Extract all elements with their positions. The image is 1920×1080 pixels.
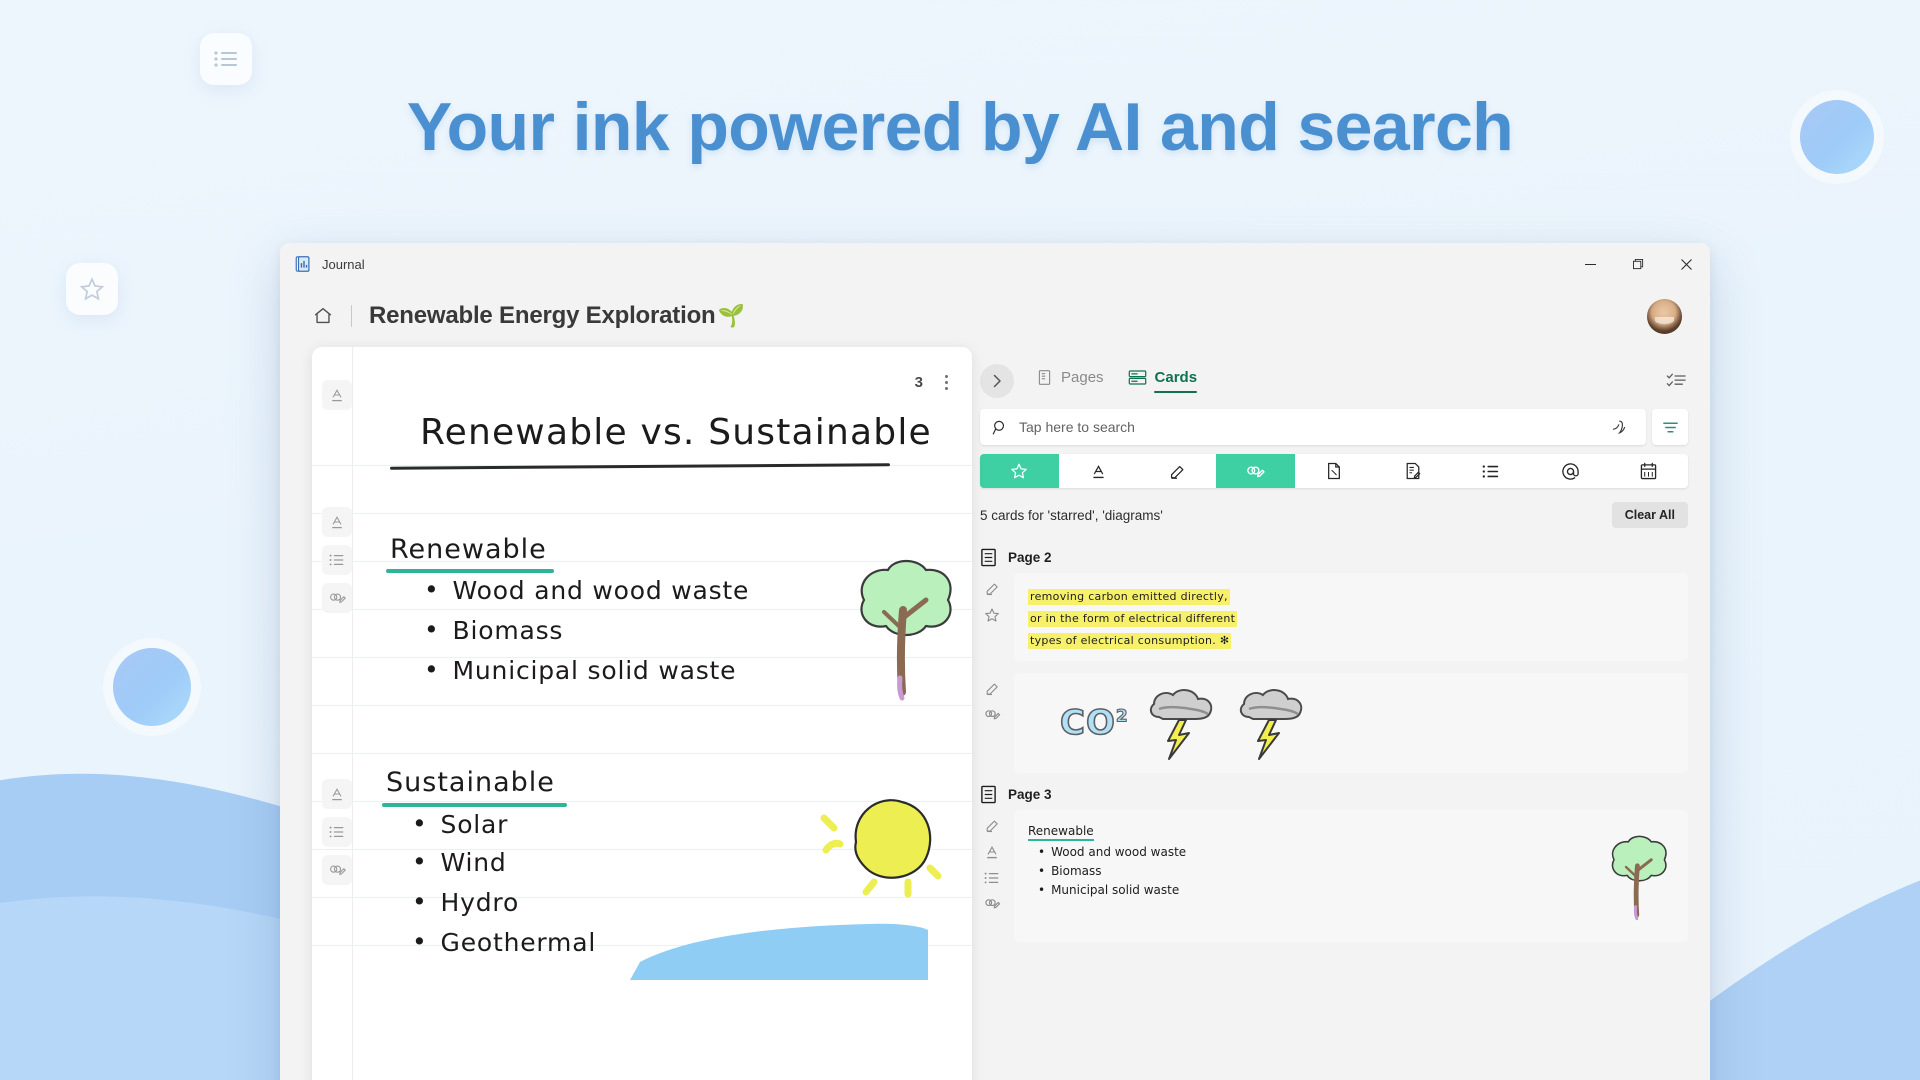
note-list-item: Municipal solid waste [424, 655, 736, 685]
underline-a-icon [1090, 463, 1107, 480]
window-controls [1566, 243, 1710, 285]
page-group-label: Page 3 [1008, 787, 1052, 802]
journal-icon [294, 255, 312, 273]
storm-cloud-icon [1145, 683, 1219, 763]
tab-cards-label: Cards [1155, 369, 1198, 386]
card-list-item: Wood and wood waste [1038, 845, 1674, 859]
star-icon [1010, 462, 1028, 480]
filter-chip-mentions[interactable] [1531, 454, 1610, 488]
star-icon-card [66, 263, 118, 315]
list-icon [329, 553, 345, 567]
clear-all-button[interactable]: Clear All [1612, 502, 1688, 528]
highlighter-icon [1168, 463, 1186, 480]
note-list-item: Geothermal [412, 927, 596, 957]
diagram-icon[interactable] [984, 896, 1001, 911]
more-options-button[interactable] [939, 371, 954, 394]
rail-list-button-1[interactable] [322, 545, 352, 575]
minimize-icon [1585, 259, 1596, 270]
page-group: Page 2 [980, 548, 1688, 773]
highlight-line: or in the form of electrical different [1030, 609, 1235, 627]
pen-icon [329, 590, 346, 606]
card-diagram-co2[interactable]: CO2 [1014, 673, 1688, 773]
highlighter-icon[interactable] [984, 681, 1000, 696]
window-titlebar: Journal [280, 243, 1710, 285]
calendar-icon [1640, 462, 1657, 480]
page-icon [980, 548, 997, 567]
card-note-excerpt[interactable]: Renewable Wood and wood waste Biomass Mu… [1014, 810, 1688, 942]
page-meta: 3 [915, 371, 954, 394]
filter-chip-diagrams[interactable] [1216, 454, 1295, 488]
card-rail [980, 673, 1004, 773]
text-format-icon [329, 387, 345, 403]
avatar[interactable] [1647, 299, 1682, 334]
water-drawing [630, 910, 930, 980]
page-group-header[interactable]: Page 3 [980, 785, 1688, 804]
note-list-item: Wind [412, 847, 507, 877]
highlighter-icon[interactable] [984, 581, 1000, 596]
pdf-icon [1326, 462, 1342, 480]
card-highlighted-text[interactable]: removing carbon emitted directly, or in … [1014, 573, 1688, 661]
sun-drawing [804, 784, 954, 909]
card-row[interactable]: CO2 [980, 673, 1688, 773]
margin-rail [352, 347, 353, 1080]
close-icon [1681, 259, 1692, 270]
panel-top-bar: Pages Cards [972, 359, 1688, 403]
home-button[interactable] [312, 305, 334, 327]
cards-icon [1128, 369, 1147, 386]
pen-icon [329, 862, 346, 878]
search-box[interactable] [980, 409, 1646, 445]
filter-chip-lists[interactable] [1452, 454, 1531, 488]
note-list-item: Biomass [424, 615, 563, 645]
rail-text-format-button-1[interactable] [322, 380, 352, 410]
results-summary: 5 cards for 'starred', 'diagrams' [980, 508, 1163, 523]
document-header: Renewable Energy Exploration 🌱 [280, 285, 1710, 347]
rail-list-button-2[interactable] [322, 817, 352, 847]
page-group-label: Page 2 [1008, 550, 1052, 565]
page-title: Renewable Energy Exploration 🌱 [369, 302, 745, 330]
filter-chip-highlight[interactable] [1137, 454, 1216, 488]
rail-text-format-button-3[interactable] [322, 779, 352, 809]
section-underline-sustainable [382, 803, 567, 807]
search-icon [992, 419, 1009, 436]
note-page[interactable]: 3 [312, 347, 972, 1080]
diagram-icon[interactable] [984, 707, 1001, 722]
filter-chip-text[interactable] [1059, 454, 1138, 488]
highlight-line-text: removing carbon emitted directly, [1030, 590, 1228, 603]
highlight-line: types of electrical consumption. ✻ [1030, 631, 1229, 649]
list-icon [213, 49, 239, 69]
highlighter-icon[interactable] [984, 818, 1000, 833]
search-input[interactable] [1009, 419, 1606, 435]
tab-cards[interactable]: Cards [1128, 369, 1198, 393]
list-icon [329, 825, 345, 839]
checklist-icon [1666, 371, 1686, 391]
mention-icon [1561, 462, 1580, 481]
text-format-icon [329, 514, 345, 530]
page-icon [980, 785, 997, 804]
cards-side-panel: Pages Cards [972, 347, 1710, 1080]
card-rail [980, 810, 1004, 942]
storm-cloud-icon [1235, 683, 1309, 763]
list-icon [1482, 464, 1500, 479]
panel-tabs: Pages Cards [1036, 369, 1197, 393]
section-heading-renewable: Renewable [390, 534, 547, 565]
document-title-text: Renewable Energy Exploration [369, 302, 716, 330]
note-title-ink: Renewable vs. Sustainable [420, 412, 932, 453]
page-number: 3 [915, 374, 923, 391]
page-group: Page 3 [980, 785, 1688, 942]
rail-pen-button-2[interactable] [322, 855, 352, 885]
app-body: 3 [280, 347, 1710, 1080]
tree-drawing [1602, 828, 1674, 924]
journal-app-window: Journal [280, 243, 1710, 1080]
highlight-line-text: or in the form of electrical different [1030, 612, 1235, 625]
page-headline: Your ink powered by AI and search [0, 88, 1920, 166]
filter-chip-dates[interactable] [1609, 454, 1688, 488]
header-divider [351, 305, 352, 327]
highlight-line-text: types of electrical consumption. ✻ [1030, 634, 1229, 647]
diagram-icon [1246, 463, 1265, 480]
expand-panel-button[interactable] [980, 364, 1014, 398]
card-row[interactable]: removing carbon emitted directly, or in … [980, 573, 1688, 661]
rail-pen-button-1[interactable] [322, 583, 352, 613]
note-list-item: Hydro [412, 887, 519, 917]
filter-icon [1662, 419, 1679, 436]
results-row: 5 cards for 'starred', 'diagrams' Clear … [980, 502, 1688, 528]
maximize-icon [1633, 259, 1644, 270]
page-icon [1036, 369, 1053, 386]
close-button[interactable] [1662, 243, 1710, 285]
note-list-item: Wood and wood waste [424, 575, 749, 605]
app-name-label: Journal [322, 257, 365, 272]
text-format-icon [329, 786, 345, 802]
form-icon [1405, 462, 1421, 480]
list-icon[interactable] [984, 871, 1000, 885]
search-filter-button[interactable] [1652, 409, 1688, 445]
tree-drawing [844, 552, 964, 702]
section-underline-renewable [386, 569, 554, 573]
cards-list[interactable]: Page 2 [980, 538, 1688, 1080]
card-list-item: Biomass [1038, 864, 1674, 878]
underline-a-icon[interactable] [984, 844, 1000, 860]
ink-input-button[interactable] [1606, 419, 1636, 435]
page-group-header[interactable]: Page 2 [980, 548, 1688, 567]
maximize-button[interactable] [1614, 243, 1662, 285]
filter-chip-starred[interactable] [980, 454, 1059, 488]
filter-chip-pdf[interactable] [1295, 454, 1374, 488]
card-list-item: Municipal solid waste [1038, 883, 1674, 897]
note-canvas-wrapper: 3 [312, 347, 972, 1080]
blue-circle-left-icon [113, 648, 191, 726]
chevron-right-icon [989, 373, 1005, 389]
ink-input-icon [1612, 419, 1630, 435]
tab-pages[interactable]: Pages [1036, 369, 1104, 393]
filter-chip-forms[interactable] [1373, 454, 1452, 488]
list-icon-card [200, 33, 252, 85]
card-heading: Renewable [1028, 824, 1094, 838]
seedling-icon: 🌱 [718, 305, 745, 327]
tab-pages-label: Pages [1061, 369, 1104, 386]
section-heading-sustainable: Sustainable [386, 767, 555, 798]
star-icon[interactable] [984, 607, 1000, 623]
co2-label: CO2 [1060, 703, 1129, 743]
minimize-button[interactable] [1566, 243, 1614, 285]
highlight-line: removing carbon emitted directly, [1030, 587, 1228, 605]
search-row [980, 409, 1688, 445]
card-row[interactable]: Renewable Wood and wood waste Biomass Mu… [980, 810, 1688, 942]
note-list-item: Solar [412, 809, 508, 839]
rail-text-format-button-2[interactable] [322, 507, 352, 537]
card-rail [980, 573, 1004, 661]
star-icon [79, 276, 105, 302]
filter-chip-bar [980, 454, 1688, 488]
checklist-button[interactable] [1666, 371, 1688, 391]
home-icon [312, 305, 334, 327]
